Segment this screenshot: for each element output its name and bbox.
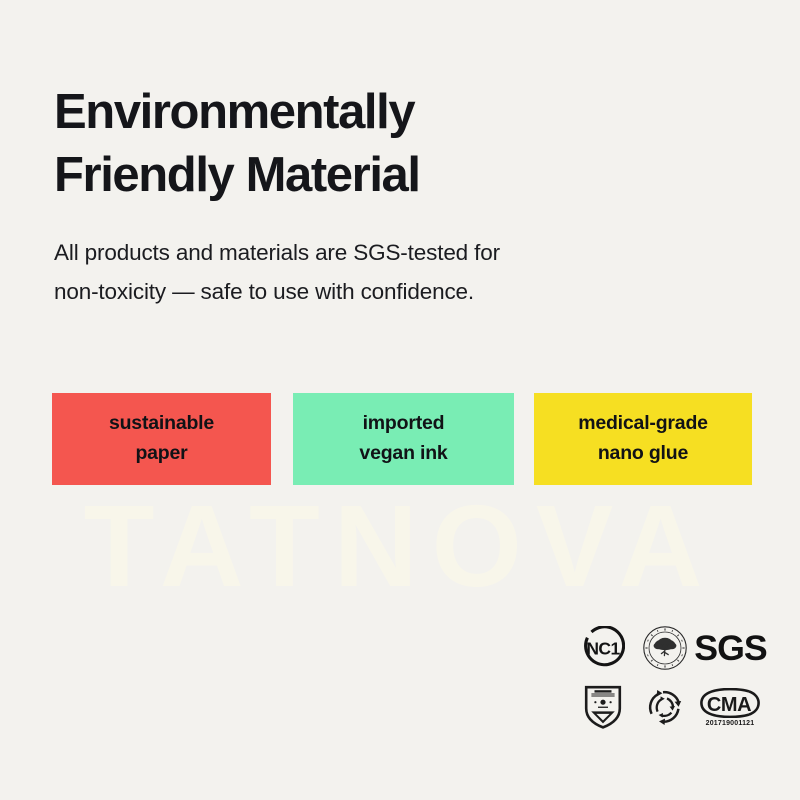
- material-card-sustainable-paper: sustainable paper: [52, 393, 271, 485]
- page-subtitle-line-2: non-toxicity — safe to use with confiden…: [54, 273, 694, 312]
- page-subtitle-line-1: All products and materials are SGS-teste…: [54, 234, 694, 273]
- material-card-list: sustainable paper imported vegan ink med…: [52, 393, 752, 485]
- material-card-line-2: paper: [135, 439, 187, 469]
- page-title-line-2: Friendly Material: [54, 144, 754, 207]
- material-card-line-1: sustainable: [109, 409, 214, 439]
- poster-canvas: TATNOVA Environmentally Friendly Materia…: [0, 0, 800, 800]
- shield-chevron-icon: [572, 677, 634, 737]
- nc1-circle-icon: NC1: [572, 619, 634, 677]
- material-card-vegan-ink: imported vegan ink: [293, 393, 514, 485]
- material-card-line-2: vegan ink: [359, 439, 447, 469]
- page-subtitle: All products and materials are SGS-teste…: [54, 234, 694, 312]
- svg-text:NC1: NC1: [586, 639, 620, 659]
- tree-seal-icon: [634, 619, 696, 677]
- brand-watermark: TATNOVA: [0, 476, 800, 616]
- sgs-label: SGS: [694, 631, 766, 666]
- material-card-line-1: medical-grade: [578, 409, 708, 439]
- certification-badge-grid: NC1: [572, 619, 764, 737]
- material-card-line-1: imported: [363, 409, 445, 439]
- svg-text:CMA: CMA: [707, 694, 751, 716]
- recycle-arrows-icon: [634, 677, 696, 737]
- page-title: Environmentally Friendly Material: [54, 81, 754, 206]
- material-card-line-2: nano glue: [598, 439, 688, 469]
- page-title-line-1: Environmentally: [54, 81, 754, 144]
- cma-oval-icon: CMA 201719001121: [696, 677, 764, 737]
- material-card-nano-glue: medical-grade nano glue: [534, 393, 752, 485]
- sgs-wordmark-icon: SGS: [696, 619, 764, 677]
- cma-certificate-number: 201719001121: [706, 720, 755, 727]
